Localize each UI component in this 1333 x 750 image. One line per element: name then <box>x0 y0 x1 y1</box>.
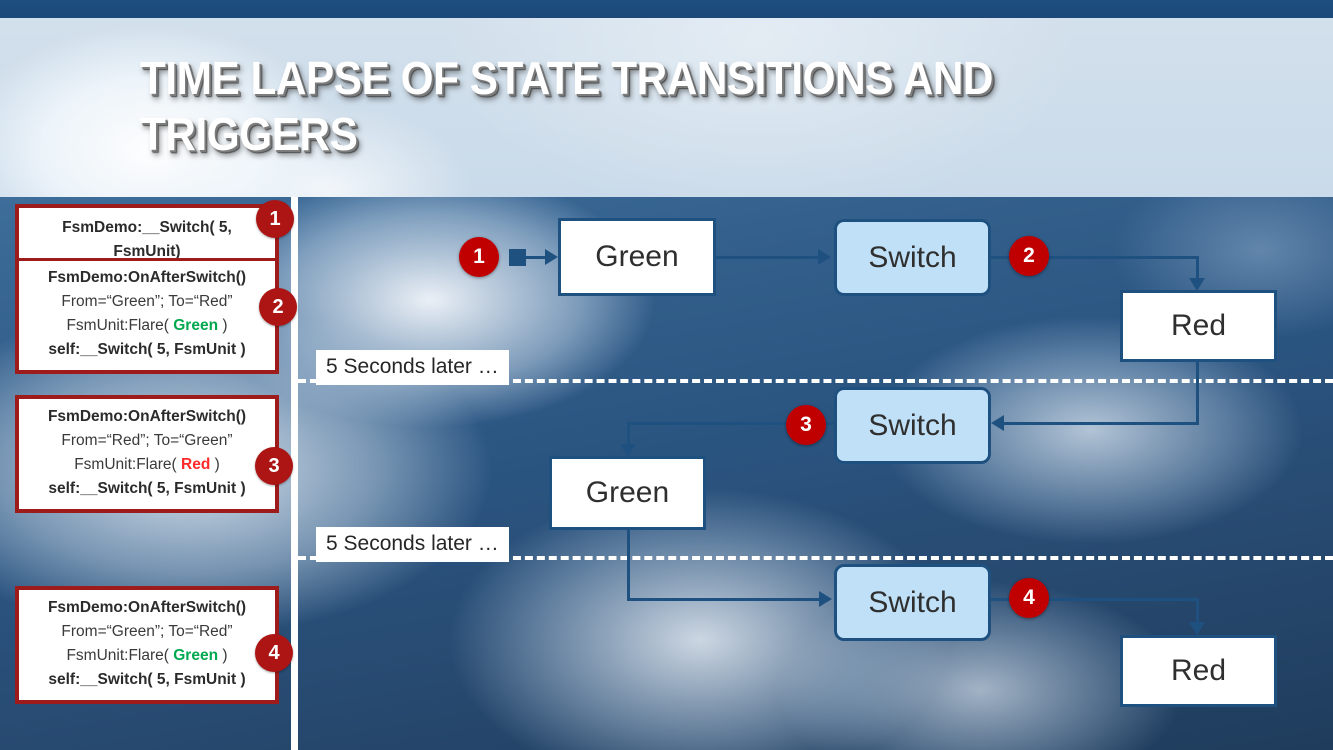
panel-divider <box>291 197 298 750</box>
node-green-2[interactable]: Green <box>549 456 706 530</box>
node-label: Red <box>1171 654 1226 688</box>
arrowhead-right <box>818 249 831 265</box>
log-line-flare: FsmUnit:Flare( Green ) <box>25 644 269 668</box>
node-label: Switch <box>868 241 956 275</box>
log-line: FsmDemo:OnAfterSwitch() <box>25 266 269 290</box>
node-red-1[interactable]: Red <box>1120 290 1277 362</box>
connector-switch3-to-red2-v <box>1196 598 1199 624</box>
slide-canvas: TIME LAPSE OF STATE TRANSITIONS AND TRIG… <box>0 0 1333 750</box>
log-line: self:__Switch( 5, FsmUnit ) <box>25 477 269 501</box>
log-badge-4: 4 <box>255 634 293 672</box>
node-switch-3[interactable]: Switch <box>834 564 991 641</box>
arrowhead-right <box>545 249 558 265</box>
node-label: Red <box>1171 309 1226 343</box>
node-switch-1[interactable]: Switch <box>834 219 991 296</box>
node-label: Switch <box>868 586 956 620</box>
node-switch-2[interactable]: Switch <box>834 387 991 464</box>
connector-red1-to-switch2-v <box>1196 362 1199 424</box>
node-green-1[interactable]: Green <box>558 218 716 296</box>
time-separator-label-2: 5 Seconds later … <box>316 527 509 562</box>
arrowhead-left <box>991 415 1004 431</box>
node-label: Green <box>595 240 678 274</box>
log-panel-2: FsmDemo:OnAfterSwitch() From=“Green”; To… <box>15 258 279 374</box>
connector-switch1-to-red1-v <box>1196 256 1199 280</box>
connector-green1-to-switch1 <box>716 256 821 259</box>
log-line: FsmDemo:OnAfterSwitch() <box>25 596 269 620</box>
diagram-badge-3: 3 <box>786 405 826 445</box>
log-badge-2: 2 <box>259 288 297 326</box>
connector-switch2-to-green2-v <box>627 422 630 446</box>
log-line: From=“Green”; To=“Red” <box>25 290 269 314</box>
top-accent-strip <box>0 0 1333 18</box>
connector-green2-to-switch3-v <box>627 530 630 600</box>
log-badge-3: 3 <box>255 447 293 485</box>
log-panel-4: FsmDemo:OnAfterSwitch() From=“Green”; To… <box>15 586 279 704</box>
time-separator-label-1: 5 Seconds later … <box>316 350 509 385</box>
log-line-flare: FsmUnit:Flare( Green ) <box>25 314 269 338</box>
log-line: self:__Switch( 5, FsmUnit ) <box>25 668 269 692</box>
start-marker <box>509 249 526 266</box>
diagram-badge-1: 1 <box>459 237 499 277</box>
node-label: Green <box>586 476 669 510</box>
diagram-badge-2: 2 <box>1009 236 1049 276</box>
flare-token: Red <box>181 456 210 473</box>
page-title: TIME LAPSE OF STATE TRANSITIONS AND TRIG… <box>140 50 1115 162</box>
diagram-badge-4: 4 <box>1009 578 1049 618</box>
node-label: Switch <box>868 409 956 443</box>
log-badge-1: 1 <box>256 200 294 238</box>
flare-token: Green <box>173 317 218 334</box>
connector-red1-to-switch2-h <box>1004 422 1199 425</box>
flare-token: Green <box>173 647 218 664</box>
log-line-flare: FsmUnit:Flare( Red ) <box>25 453 269 477</box>
arrowhead-down <box>1189 622 1205 635</box>
arrowhead-right <box>819 591 832 607</box>
log-panel-3: FsmDemo:OnAfterSwitch() From=“Red”; To=“… <box>15 395 279 513</box>
log-line: From=“Green”; To=“Red” <box>25 620 269 644</box>
log-line: From=“Red”; To=“Green” <box>25 429 269 453</box>
node-red-2[interactable]: Red <box>1120 635 1277 707</box>
connector-green2-to-switch3-h <box>627 598 822 601</box>
log-line: self:__Switch( 5, FsmUnit ) <box>25 338 269 362</box>
log-line: FsmDemo:__Switch( 5, <box>25 216 269 240</box>
log-line: FsmDemo:OnAfterSwitch() <box>25 405 269 429</box>
